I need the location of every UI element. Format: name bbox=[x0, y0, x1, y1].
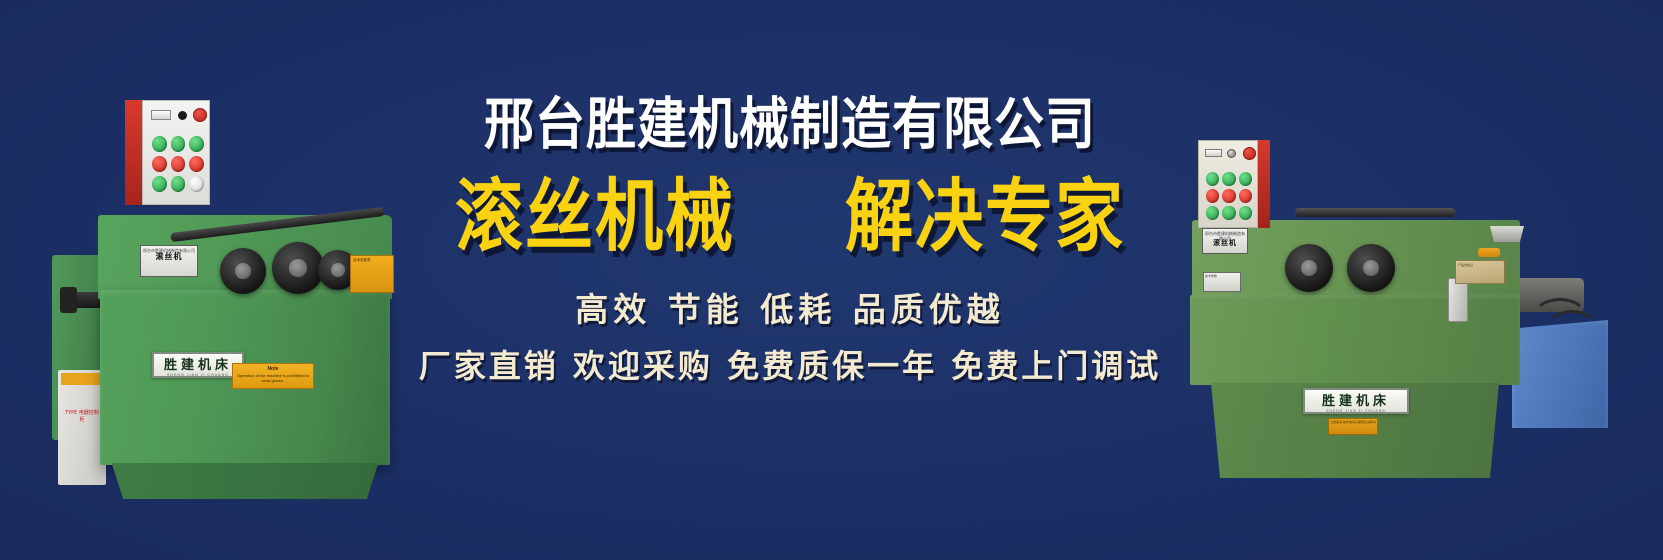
panel-button-green-1 bbox=[1206, 172, 1219, 186]
machine-right-brass-plate: 产品合格证 bbox=[1455, 260, 1505, 284]
panel-button-green-2 bbox=[1222, 172, 1235, 186]
panel-button-green-3 bbox=[189, 136, 204, 152]
panel-meter-display bbox=[151, 110, 171, 120]
spec-plate-model: 滚丝机 bbox=[1205, 241, 1245, 246]
nameplate-brand-pinyin: SHENG JIAN JI CHUANG bbox=[167, 373, 229, 377]
machine-right-top-bar bbox=[1295, 208, 1455, 217]
control-panel-red-side bbox=[125, 100, 142, 205]
machine-right-roller-assembly bbox=[1285, 238, 1425, 298]
panel-button-green-4 bbox=[152, 176, 167, 192]
emergency-stop-button bbox=[1243, 147, 1256, 160]
machine-right-warning-label: 注意事项 操作前请仔细阅读说明书 bbox=[1328, 418, 1378, 435]
panel-button-green-6 bbox=[1239, 206, 1252, 220]
cabinet-amber-strip bbox=[61, 373, 103, 385]
panel-button-white-1 bbox=[189, 176, 204, 192]
promo-banner: TYPE 电器控制柜 邢台市胜建机械制造有限公司 滚丝机 技术参数表 胜建机床 … bbox=[0, 0, 1663, 560]
company-name: 邢台胜建机械制造有限公司 bbox=[390, 92, 1190, 157]
machine-right-valve-manifold bbox=[1490, 226, 1524, 242]
machine-left-control-panel bbox=[125, 100, 210, 205]
nameplate-brand-cn: 胜建机床 bbox=[1322, 390, 1390, 409]
tagline-secondary: 厂家直销 欢迎采购 免费质保一年 免费上门调试 bbox=[390, 346, 1190, 386]
thread-rolling-machine-right: 邢台市胜建机械制造有限公司 滚丝机 技术参数 产品合格证 胜建机床 SHENG … bbox=[1160, 120, 1660, 480]
panel-selector-knob bbox=[178, 111, 187, 120]
panel-button-red-1 bbox=[1206, 189, 1219, 203]
banner-text-block: 邢台胜建机械制造有限公司 滚丝机械 解决专家 高效 节能 低耗 品质优越 厂家直… bbox=[390, 92, 1190, 432]
panel-button-green-3 bbox=[1239, 172, 1252, 186]
roller-die-1 bbox=[1285, 244, 1333, 292]
panel-button-red-2 bbox=[1222, 189, 1235, 203]
machine-left-spec-plate: 邢台市胜建机械制造有限公司 滚丝机 bbox=[140, 245, 198, 277]
panel-button-red-2 bbox=[171, 156, 186, 172]
control-panel-red-side bbox=[1258, 140, 1270, 228]
machine-left-electrical-cabinet: TYPE 电器控制柜 bbox=[58, 370, 106, 485]
machine-right-control-panel bbox=[1198, 140, 1270, 228]
spec-plate-model: 滚丝机 bbox=[143, 254, 195, 260]
panel-selector-knob bbox=[1227, 149, 1236, 158]
machine-right-spec-plate: 邢台市胜建机械制造有限公司 滚丝机 bbox=[1202, 228, 1248, 254]
machine-right-nameplate: 胜建机床 SHENG JIAN JI CHUANG bbox=[1303, 388, 1409, 414]
panel-button-green-4 bbox=[1206, 206, 1219, 220]
panel-button-red-3 bbox=[1239, 189, 1252, 203]
headline-left: 滚丝机械 bbox=[455, 174, 735, 262]
panel-button-green-2 bbox=[171, 136, 186, 152]
warning-title: Note bbox=[267, 366, 278, 372]
tagline-primary: 高效 节能 低耗 品质优越 bbox=[390, 290, 1190, 330]
nameplate-brand-pinyin: SHENG JIAN JI CHUANG bbox=[1326, 409, 1386, 413]
panel-button-red-3 bbox=[189, 156, 204, 172]
panel-button-red-1 bbox=[152, 156, 167, 172]
warning-text: Operation of the machine is prohibited t… bbox=[235, 373, 311, 384]
control-panel-face bbox=[142, 100, 210, 205]
panel-button-grid bbox=[149, 133, 207, 195]
panel-button-green-5 bbox=[171, 176, 186, 192]
panel-button-green-5 bbox=[1222, 206, 1235, 220]
thread-rolling-machine-left: TYPE 电器控制柜 邢台市胜建机械制造有限公司 滚丝机 技术参数表 胜建机床 … bbox=[20, 95, 420, 495]
panel-button-green-1 bbox=[152, 136, 167, 152]
machine-right-main-body bbox=[1190, 295, 1520, 385]
machine-right-orange-cap bbox=[1478, 248, 1500, 257]
nameplate-brand-cn: 胜建机床 bbox=[164, 354, 232, 373]
roller-die-1 bbox=[220, 248, 266, 294]
panel-button-grid bbox=[1203, 169, 1255, 223]
headline-row: 滚丝机械 解决专家 bbox=[390, 180, 1190, 256]
roller-die-2 bbox=[272, 242, 324, 294]
machine-left-roller-assembly bbox=[220, 240, 360, 300]
headline-right: 解决专家 bbox=[845, 174, 1125, 262]
machine-right-lubricator bbox=[1448, 278, 1468, 322]
panel-meter-display bbox=[1205, 149, 1222, 157]
cabinet-label: TYPE 电器控制柜 bbox=[63, 410, 101, 446]
machine-right-hose-2 bbox=[1546, 310, 1598, 348]
machine-left-parameter-label: 技术参数表 bbox=[350, 255, 394, 293]
emergency-stop-button bbox=[193, 108, 207, 122]
machine-left-nameplate: 胜建机床 SHENG JIAN JI CHUANG bbox=[152, 352, 244, 378]
machine-right-parameter-plate: 技术参数 bbox=[1203, 272, 1241, 292]
machine-left-warning-label: Note Operation of the machine is prohibi… bbox=[232, 363, 314, 389]
roller-die-2 bbox=[1347, 244, 1395, 292]
control-panel-face bbox=[1198, 140, 1258, 228]
